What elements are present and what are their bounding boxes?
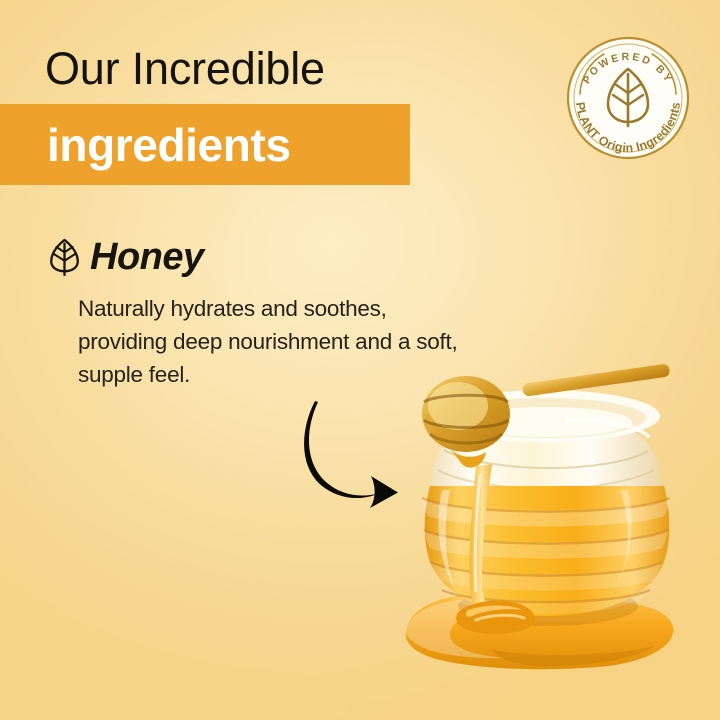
plant-origin-badge: POWERED BY PLANT Origin Ingredients — [560, 30, 696, 166]
ingredient-description: Naturally hydrates and soothes, providin… — [78, 292, 478, 391]
ingredient-name: Honey — [90, 235, 204, 279]
honey-jar-with-dipper-image — [372, 358, 720, 688]
page-title-line2: ingredients — [47, 113, 291, 177]
page-title-line1: Our Incredible — [45, 41, 325, 97]
curved-arrow-icon — [300, 398, 418, 510]
leaf-icon — [48, 238, 81, 276]
ingredient-highlight-card: Our Incredible ingredients — [0, 0, 720, 720]
ingredient-heading: Honey — [48, 235, 204, 279]
